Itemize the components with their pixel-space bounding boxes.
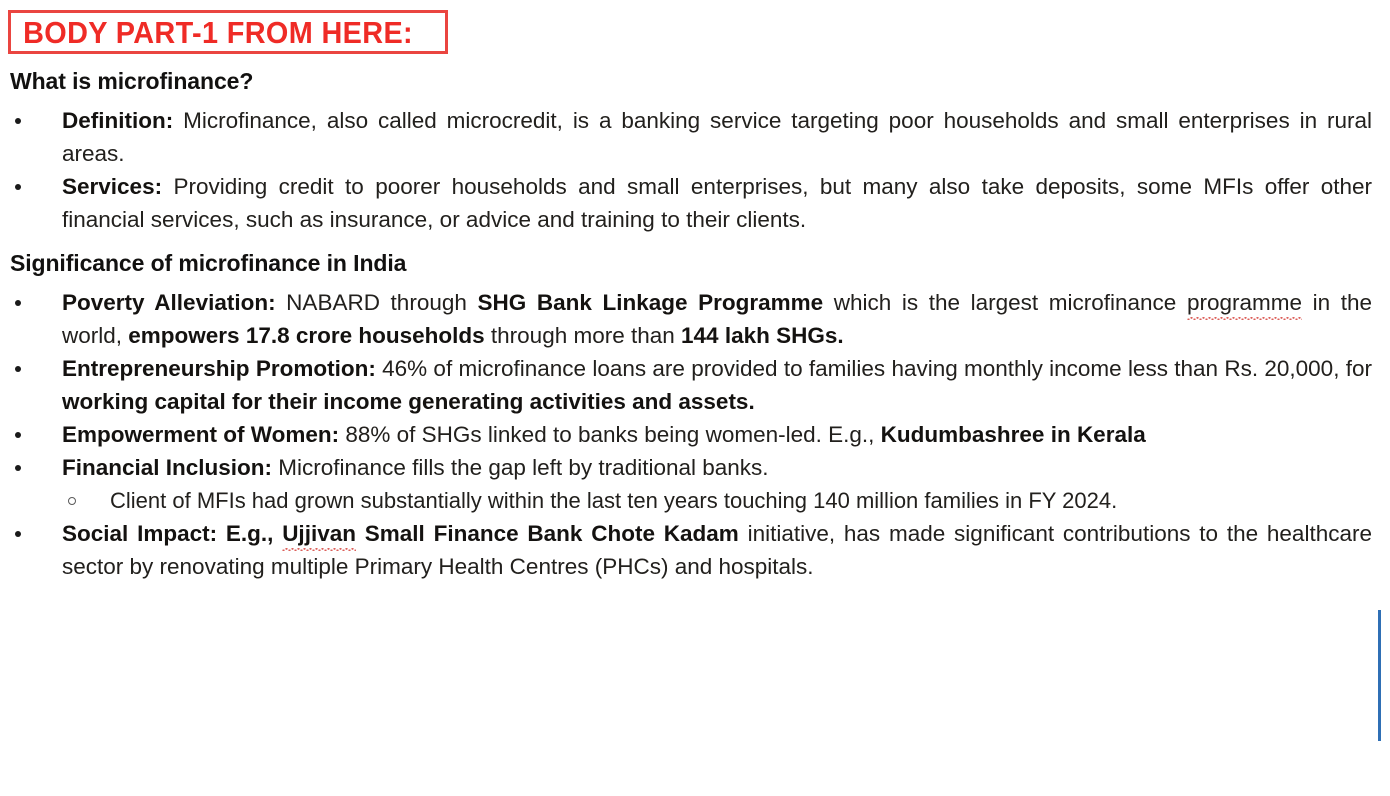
women-text-1: 88% of SHGs linked to banks being women-… xyxy=(339,422,881,447)
document-content: What is microfinance? Definition: Microf… xyxy=(0,64,1390,583)
bullet-lead-poverty: Poverty Alleviation: xyxy=(62,290,276,315)
social-impact-bold-bank-chote-kadam: Small Finance Bank Chote Kadam xyxy=(356,521,739,546)
bullet-lead-women: Empowerment of Women: xyxy=(62,422,339,447)
entrepreneurship-text-1: 46% of microfinance loans are provided t… xyxy=(376,356,1372,381)
spellcheck-word-programme: programme xyxy=(1187,286,1302,319)
sub-list-financial-inclusion: Client of MFIs had grown substantially w… xyxy=(0,484,1390,517)
bullet-lead-social-impact: Social Impact: E.g., xyxy=(62,521,282,546)
heading-what-is-microfinance: What is microfinance? xyxy=(10,64,1390,95)
banner-box: BODY PART-1 FROM HERE: xyxy=(8,10,448,54)
entrepreneurship-bold-working-capital: working capital for their income generat… xyxy=(62,389,755,414)
list-significance-continued: Social Impact: E.g., Ujjivan Small Finan… xyxy=(0,517,1390,583)
poverty-text-1: NABARD through xyxy=(276,290,478,315)
list-item-services: Services: Providing credit to poorer hou… xyxy=(0,170,1390,236)
list-item-social-impact: Social Impact: E.g., Ujjivan Small Finan… xyxy=(0,517,1390,583)
bullet-body-services: Providing credit to poorer households an… xyxy=(62,174,1372,232)
poverty-bold-shg-programme: SHG Bank Linkage Programme xyxy=(477,290,823,315)
sub-list-item-mfi-clients: Client of MFIs had grown substantially w… xyxy=(0,484,1390,517)
financial-inclusion-text-1: Microfinance fills the gap left by tradi… xyxy=(272,455,769,480)
blue-marker-bar xyxy=(1378,610,1381,741)
poverty-bold-shgs: 144 lakh SHGs. xyxy=(681,323,844,348)
list-item-definition: Definition: Microfinance, also called mi… xyxy=(0,104,1390,170)
poverty-bold-empowers: empowers 17.8 crore households xyxy=(128,323,484,348)
list-item-poverty-alleviation: Poverty Alleviation: NABARD through SHG … xyxy=(0,286,1390,352)
heading-significance: Significance of microfinance in India xyxy=(10,236,1390,277)
bullet-lead-services: Services: xyxy=(62,174,162,199)
bullet-lead-definition: Definition: xyxy=(62,108,173,133)
bullet-lead-entrepreneurship: Entrepreneurship Promotion: xyxy=(62,356,376,381)
poverty-text-4: through more than xyxy=(485,323,681,348)
list-item-empowerment-of-women: Empowerment of Women: 88% of SHGs linked… xyxy=(0,418,1390,451)
bullet-lead-financial-inclusion: Financial Inclusion: xyxy=(62,455,272,480)
list-what-is-microfinance: Definition: Microfinance, also called mi… xyxy=(0,104,1390,236)
list-significance: Poverty Alleviation: NABARD through SHG … xyxy=(0,286,1390,484)
women-bold-kudumbashree: Kudumbashree in Kerala xyxy=(881,422,1146,447)
list-item-entrepreneurship-promotion: Entrepreneurship Promotion: 46% of micro… xyxy=(0,352,1390,418)
bullet-body-definition: Microfinance, also called microcredit, i… xyxy=(62,108,1372,166)
sub-bullet-text-mfi-clients: Client of MFIs had grown substantially w… xyxy=(110,488,1117,513)
banner-title: BODY PART-1 FROM HERE: xyxy=(11,17,413,48)
list-item-financial-inclusion: Financial Inclusion: Microfinance fills … xyxy=(0,451,1390,484)
poverty-text-2: which is the largest microfinance xyxy=(823,290,1187,315)
spellcheck-word-ujjivan: Ujjivan xyxy=(282,517,356,550)
document-page: BODY PART-1 FROM HERE: What is microfina… xyxy=(0,0,1390,796)
